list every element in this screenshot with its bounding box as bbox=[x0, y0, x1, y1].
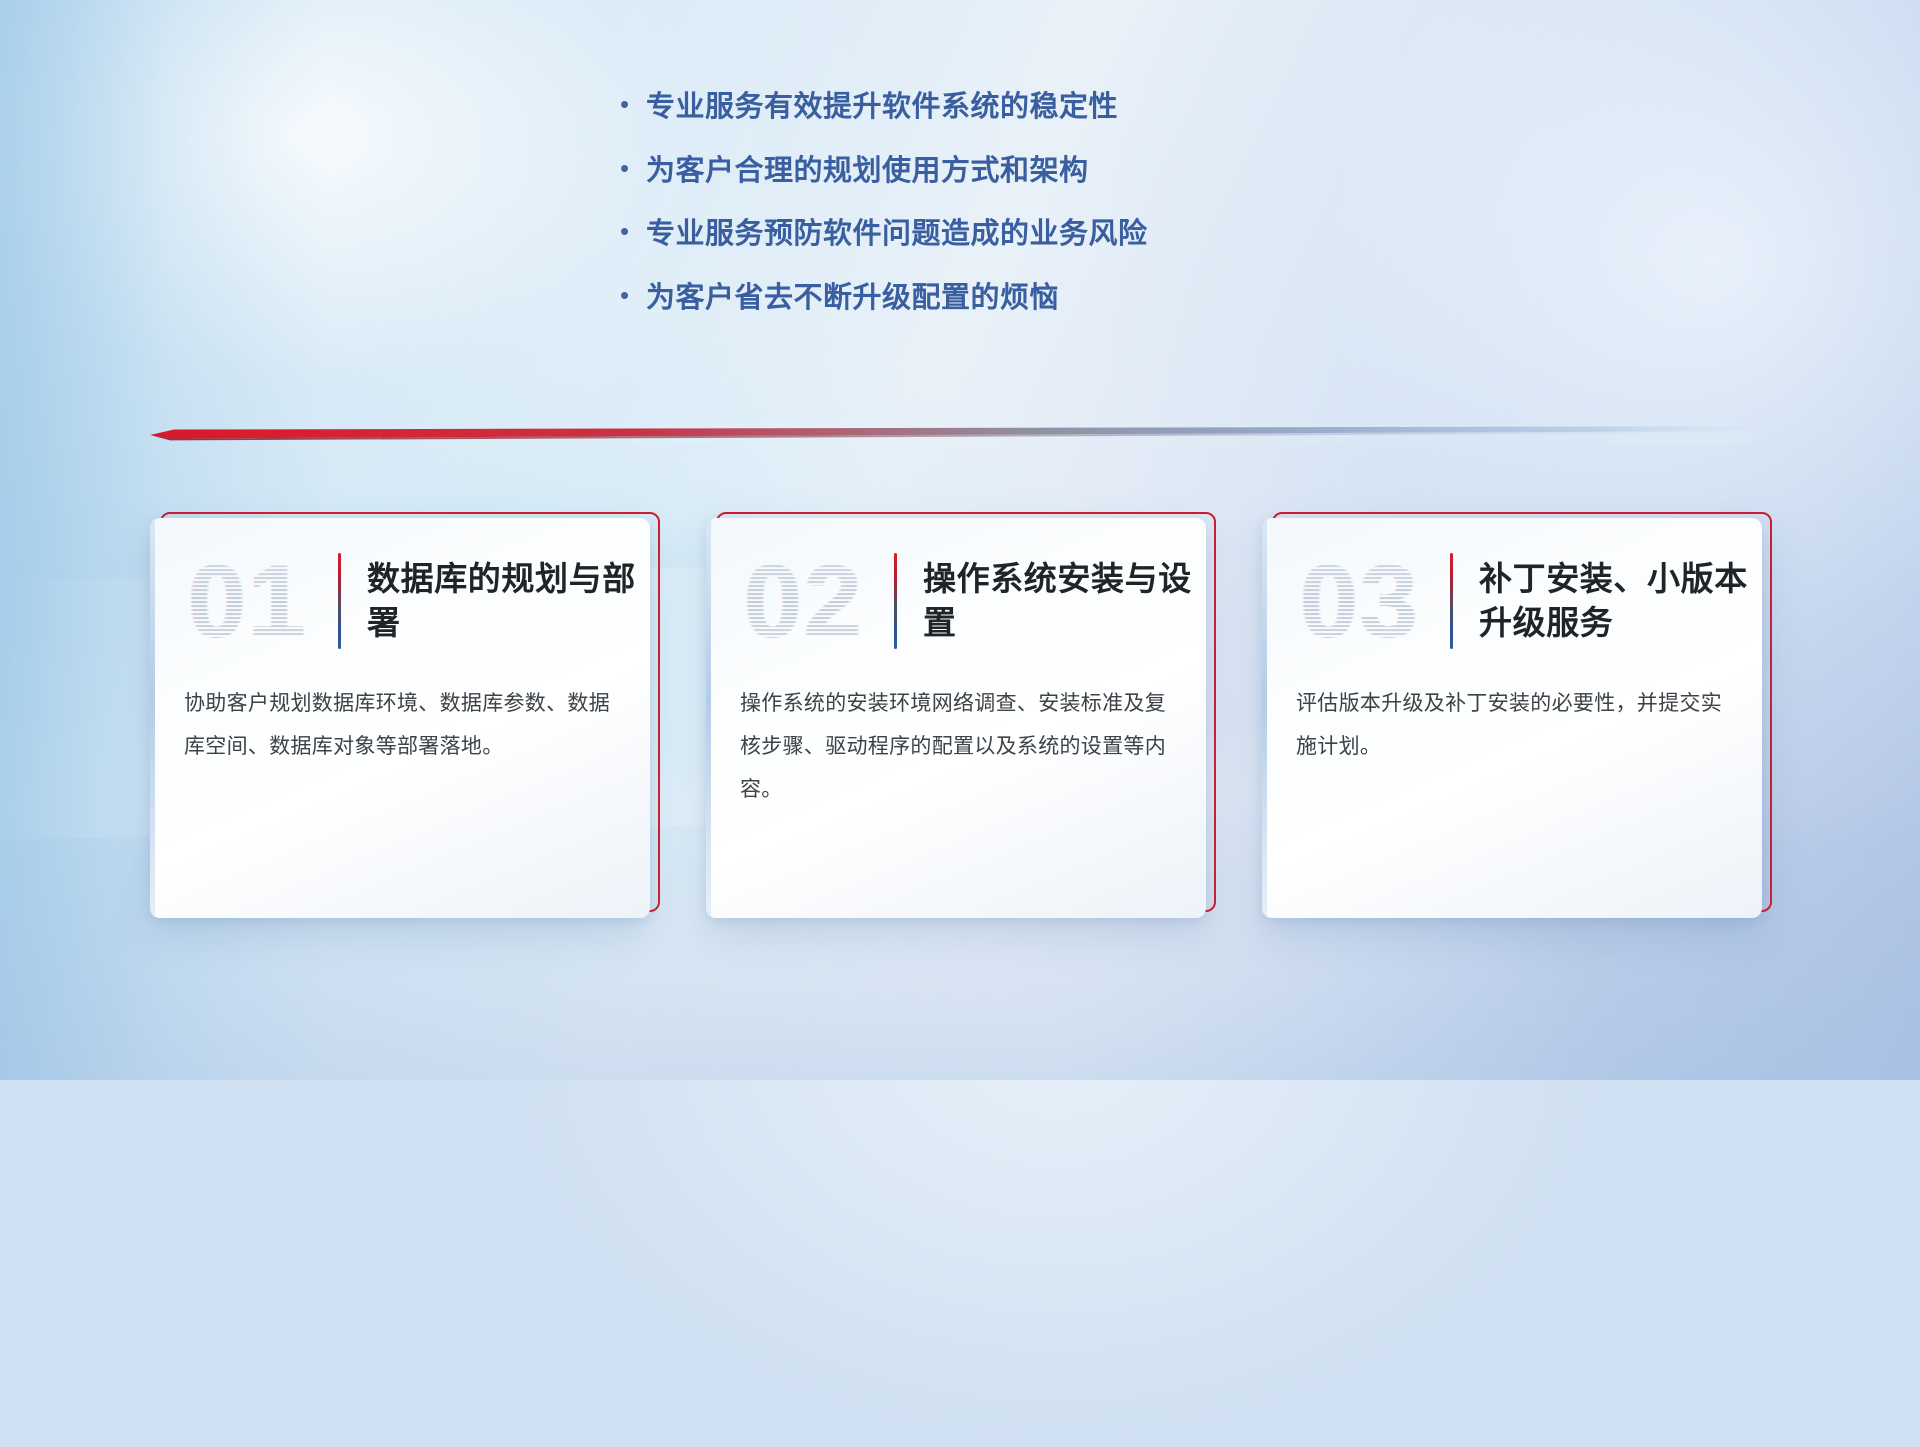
service-card-list: 01010101数据库的规划与部署协助客户规划数据库环境、数据库参数、数据库空间… bbox=[150, 518, 1782, 918]
bullet-marker-icon: • bbox=[620, 91, 646, 117]
card-description: 操作系统的安装环境网络调查、安装标准及复核步骤、驱动程序的配置以及系统的设置等内… bbox=[706, 668, 1206, 811]
bullet-item: •为客户合理的规划使用方式和架构 bbox=[620, 150, 1300, 194]
card-description: 协助客户规划数据库环境、数据库参数、数据库空间、数据库对象等部署落地。 bbox=[150, 668, 650, 768]
card-surface[interactable]: 02020202操作系统安装与设置操作系统的安装环境网络调查、安装标准及复核步骤… bbox=[706, 518, 1206, 918]
bullet-item-text: 专业服务预防软件问题造成的业务风险 bbox=[646, 213, 1148, 257]
bullet-marker-icon: • bbox=[620, 282, 646, 308]
bullet-item: •专业服务有效提升软件系统的稳定性 bbox=[620, 86, 1300, 130]
svg-text:01: 01 bbox=[188, 549, 308, 653]
svg-text:03: 03 bbox=[1300, 549, 1420, 653]
card-title-divider bbox=[338, 553, 341, 649]
service-card[interactable]: 03030303补丁安装、小版本升级服务评估版本升级及补丁安装的必要性，并提交实… bbox=[1262, 518, 1762, 918]
card-description: 评估版本升级及补丁安装的必要性，并提交实施计划。 bbox=[1262, 668, 1762, 768]
service-card[interactable]: 01010101数据库的规划与部署协助客户规划数据库环境、数据库参数、数据库空间… bbox=[150, 518, 650, 918]
card-title-divider bbox=[894, 553, 897, 649]
bullet-item-text: 为客户合理的规划使用方式和架构 bbox=[646, 150, 1089, 194]
card-surface[interactable]: 03030303补丁安装、小版本升级服务评估版本升级及补丁安装的必要性，并提交实… bbox=[1262, 518, 1762, 918]
card-number-glyph: 02020202 bbox=[740, 549, 890, 653]
bullet-marker-icon: • bbox=[620, 218, 646, 244]
benefits-bullet-list: •专业服务有效提升软件系统的稳定性•为客户合理的规划使用方式和架构•专业服务预防… bbox=[0, 86, 1920, 320]
card-title-divider bbox=[1450, 553, 1453, 649]
card-header: 01010101数据库的规划与部署 bbox=[150, 518, 650, 668]
card-title: 操作系统安装与设置 bbox=[923, 557, 1206, 645]
card-header: 03030303补丁安装、小版本升级服务 bbox=[1262, 518, 1762, 668]
bullet-item-text: 专业服务有效提升软件系统的稳定性 bbox=[646, 86, 1118, 130]
svg-text:02: 02 bbox=[744, 549, 864, 653]
gradient-divider bbox=[150, 423, 1750, 445]
bullet-item: •为客户省去不断升级配置的烦恼 bbox=[620, 277, 1300, 321]
card-number-glyph: 01010101 bbox=[184, 549, 334, 653]
card-header: 02020202操作系统安装与设置 bbox=[706, 518, 1206, 668]
card-number-glyph: 03030303 bbox=[1296, 549, 1446, 653]
bullet-item: •专业服务预防软件问题造成的业务风险 bbox=[620, 213, 1300, 257]
bullet-marker-icon: • bbox=[620, 155, 646, 181]
service-card[interactable]: 02020202操作系统安装与设置操作系统的安装环境网络调查、安装标准及复核步骤… bbox=[706, 518, 1206, 918]
card-title: 数据库的规划与部署 bbox=[367, 557, 650, 645]
card-surface[interactable]: 01010101数据库的规划与部署协助客户规划数据库环境、数据库参数、数据库空间… bbox=[150, 518, 650, 918]
bullet-item-text: 为客户省去不断升级配置的烦恼 bbox=[646, 277, 1059, 321]
card-title: 补丁安装、小版本升级服务 bbox=[1479, 557, 1762, 645]
